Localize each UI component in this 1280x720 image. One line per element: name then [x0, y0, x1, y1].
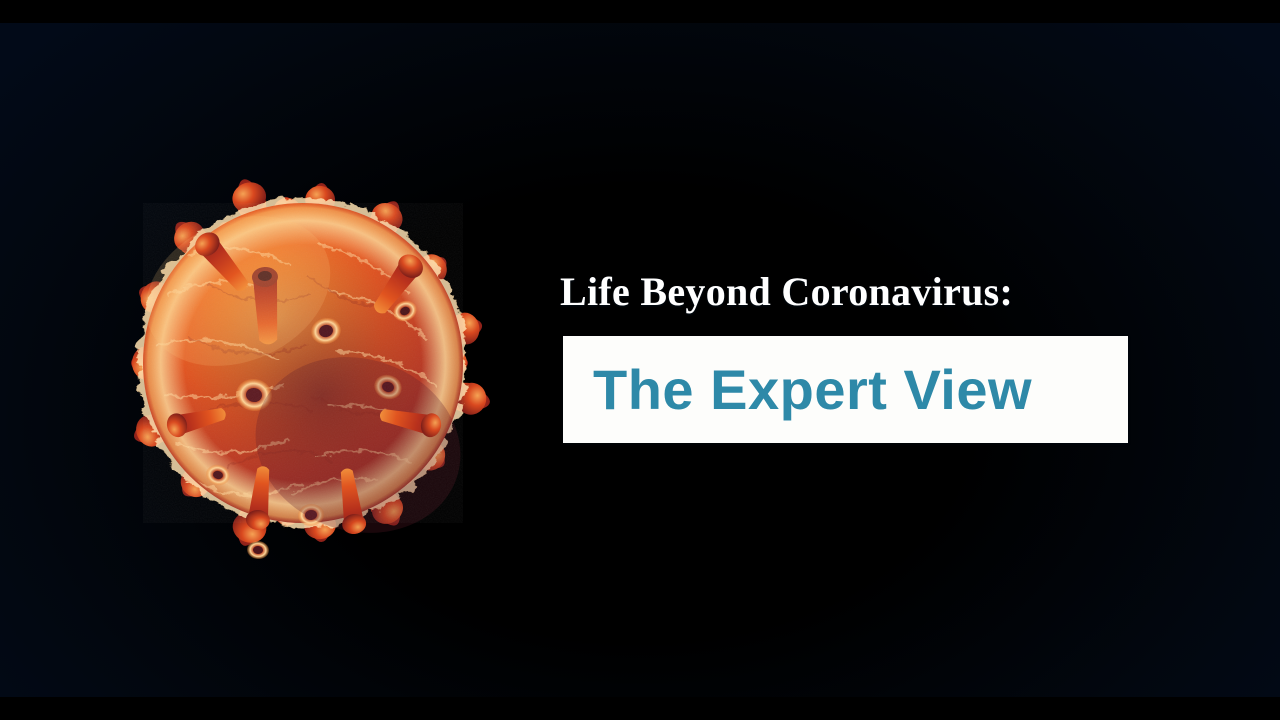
letterbox-bar-top	[0, 0, 1280, 23]
coronavirus-particle-graphic	[58, 95, 548, 620]
title-card-stage: Life Beyond Coronavirus: The Expert View	[0, 0, 1280, 720]
headline-line-2: The Expert View	[593, 362, 1032, 418]
subtitle-panel: The Expert View	[563, 336, 1128, 443]
headline-line-1: Life Beyond Coronavirus:	[560, 269, 1160, 315]
letterbox-bar-bottom	[0, 697, 1280, 720]
